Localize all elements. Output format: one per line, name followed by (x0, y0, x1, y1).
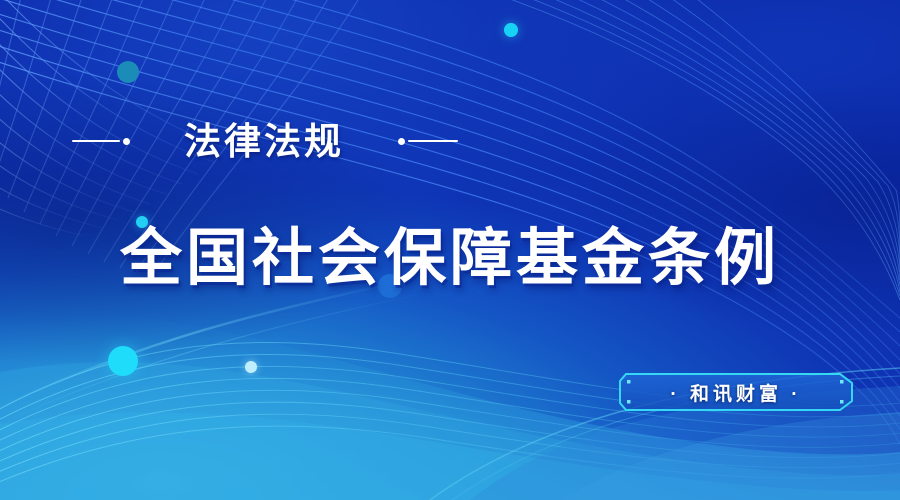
banner-image: 法律法规 全国社会保障基金条例 · 和讯财富 · (0, 0, 900, 500)
brand-badge: · 和讯财富 · (618, 372, 854, 412)
teal-dot-top-left-icon (117, 61, 139, 83)
rule-dot-left (123, 138, 130, 145)
white-dot-lower-left-icon (245, 361, 257, 373)
main-title: 全国社会保障基金条例 (0, 228, 900, 290)
rule-dot-right (398, 138, 405, 145)
rule-line-left (72, 140, 120, 142)
rule-line-right (408, 140, 458, 142)
left-sheen-streak (0, 282, 430, 428)
badge-label: · 和讯财富 · (618, 372, 854, 412)
subtitle-rule-right (398, 138, 458, 145)
cyan-dot-lower-left-icon (108, 346, 138, 376)
subtitle-text: 法律法规 (184, 123, 344, 160)
subtitle-block: 法律法规 (0, 112, 560, 170)
subtitle-rule-left (72, 138, 130, 145)
cyan-dot-top-center-icon (504, 23, 518, 37)
